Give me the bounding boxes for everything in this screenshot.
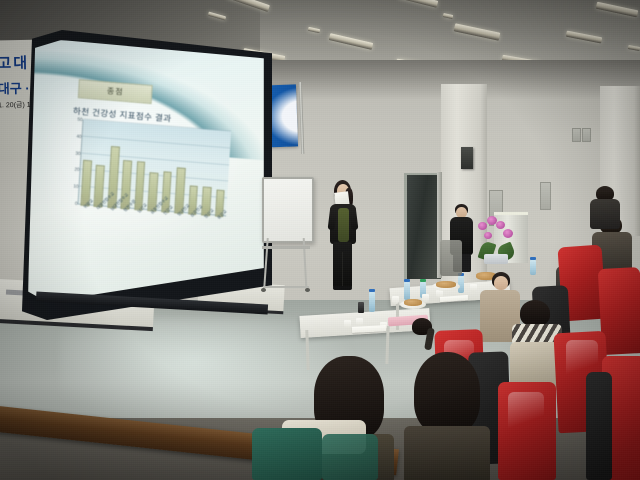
wall-panel <box>540 182 551 210</box>
auditorium-seat-back[interactable] <box>586 372 612 480</box>
flower-pot <box>484 254 508 264</box>
chart-y-tick-label: 0 <box>69 200 77 206</box>
audience-member <box>404 318 440 364</box>
wall-speaker <box>461 147 473 169</box>
presenter <box>325 180 361 292</box>
presenter-shoes <box>333 286 352 290</box>
ceiling-vent <box>582 128 591 142</box>
bottle-cap <box>369 289 375 292</box>
chart-y-tick-label: 20 <box>71 167 79 173</box>
snack-food <box>436 281 456 288</box>
ceiling-vent <box>572 128 581 142</box>
water-bottle <box>369 292 375 312</box>
audience-body <box>590 199 620 229</box>
audience-member <box>588 186 622 228</box>
paper-cup <box>392 296 399 304</box>
screen-surface: 종점 하천 건강성 지표점수 결과 01020304050 위량교대명천합수교남… <box>28 40 264 302</box>
audience-hair <box>414 352 480 434</box>
chart-y-tick-label: 10 <box>70 184 78 190</box>
whiteboard-tray <box>262 246 310 249</box>
bar-chart: 01020304050 위량교대명천합수교남대천합수교평천수문남산교금포천합수교… <box>53 118 230 251</box>
paper-cup <box>356 318 363 326</box>
chart-y-tick-label: 40 <box>73 133 81 139</box>
slide-header-text: 종점 <box>107 85 124 97</box>
chart-gridline <box>82 152 230 165</box>
presenter-leg-split <box>342 252 343 286</box>
bottle-cap <box>404 279 410 282</box>
bottle-cap <box>420 279 426 282</box>
presenter-top <box>338 208 349 242</box>
chart-gridline <box>83 135 231 148</box>
snack-food <box>404 299 422 306</box>
chair-near-door <box>440 240 462 276</box>
water-bottle <box>404 282 410 300</box>
audience-body <box>404 426 490 480</box>
whiteboard-flipchart <box>262 177 314 243</box>
paper-cup <box>470 284 477 292</box>
seat-highlight <box>508 392 544 446</box>
presentation-slide: 종점 하천 건강성 지표점수 결과 01020304050 위량교대명천합수교남… <box>28 60 257 302</box>
open-doorway <box>404 173 441 279</box>
bottle-cap <box>530 257 536 260</box>
flower-petal <box>503 229 513 238</box>
auditorium-scene: 고 대 대구 · 1. 20(금) 1 발표회 표회 국대학교 한경대학교 종점… <box>0 0 640 480</box>
chart-y-tick-label: 30 <box>72 150 80 156</box>
chart-y-tick-label: 50 <box>74 116 82 122</box>
projection-screen: 종점 하천 건강성 지표점수 결과 01020304050 위량교대명천합수교남… <box>22 30 272 320</box>
audience-member-foreground <box>404 352 490 480</box>
front-row-seat[interactable] <box>322 434 378 480</box>
flower-petal <box>478 222 487 230</box>
water-bottle <box>530 260 536 275</box>
flower-petal <box>484 232 492 239</box>
front-row-seat[interactable] <box>252 428 322 480</box>
flower-petal <box>496 221 505 229</box>
canned-drink <box>358 302 364 313</box>
paper-cup <box>344 320 351 328</box>
orchid-arrangement <box>476 212 518 260</box>
audience-head <box>494 276 508 290</box>
audience-hair <box>520 300 550 326</box>
